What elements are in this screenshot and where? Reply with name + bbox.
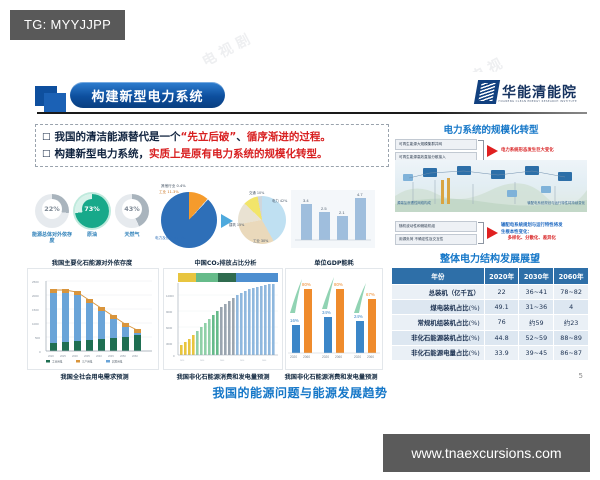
pie-caption: 中国CO₂排放占比分析 bbox=[163, 258, 288, 267]
svg-text:3.4: 3.4 bbox=[303, 198, 309, 203]
page-title: 构建新型电力系统 bbox=[70, 82, 225, 108]
svg-text:1500: 1500 bbox=[32, 308, 39, 312]
svg-text:2050: 2050 bbox=[240, 360, 244, 362]
svg-text:2020: 2020 bbox=[290, 355, 297, 359]
bullet-marker-icon: □ bbox=[42, 129, 51, 146]
cell-2060: 78~82 bbox=[554, 285, 589, 300]
cell-2060: 4 bbox=[554, 300, 589, 315]
watermark-text: 电 视 剧 bbox=[198, 29, 253, 71]
svg-text:80%: 80% bbox=[334, 282, 343, 287]
svg-text:9000: 9000 bbox=[166, 310, 173, 314]
donut-label-total: 能源总体对外依存度 bbox=[32, 232, 72, 244]
svg-text:居民用电: 居民用电 bbox=[112, 360, 123, 364]
svg-text:80%: 80% bbox=[302, 282, 311, 287]
tg-watermark-badge: TG: MYYJJPP bbox=[10, 10, 125, 40]
table-col-2020: 2020年 bbox=[484, 268, 519, 285]
transformation-result: 电力系统形态发生巨大变化 bbox=[501, 148, 554, 155]
table-title: 整体电力结构发展展望 bbox=[391, 250, 589, 265]
row-label-text: 煤电装机占比 bbox=[430, 304, 468, 312]
svg-text:2040: 2040 bbox=[220, 360, 224, 362]
cell-2020: 76 bbox=[484, 315, 519, 330]
svg-text:2030: 2030 bbox=[200, 360, 204, 362]
row-label: 煤电装机占比(%) bbox=[392, 300, 485, 315]
power-structure-table-block: 整体电力结构发展展望 年份 2020年 2030年 2060年 总装机（亿千瓦）… bbox=[391, 250, 589, 361]
svg-text:2000: 2000 bbox=[32, 294, 39, 298]
svg-text:2060: 2060 bbox=[262, 360, 266, 362]
table-row: 常规机组装机占比(%) 76 约59 约23 bbox=[392, 315, 589, 330]
cell-2020: 33.9 bbox=[484, 345, 519, 360]
svg-text:34%: 34% bbox=[322, 310, 331, 315]
svg-text:2020: 2020 bbox=[354, 355, 361, 359]
donut-value-oil: 73% bbox=[82, 205, 102, 213]
bullet-item: □ 我国的清洁能源替代是一个 “先立后破” 、 循序渐进的过程。 bbox=[42, 129, 382, 146]
cell-2020: 49.1 bbox=[484, 300, 519, 315]
bullet-item: □ 构建新型电力系统， 实质上是原有电力系统的规模化转型。 bbox=[42, 146, 382, 163]
transformation-chip: 随机波动性和储能机组 bbox=[395, 221, 477, 232]
transformation-diagram-top: 电力系统的规模化转型 可再生能源大规模集群并网 可再生能源高效直接分散接入 电力… bbox=[395, 122, 587, 163]
svg-text:三产用电: 三产用电 bbox=[82, 360, 93, 364]
svg-text:12000: 12000 bbox=[166, 294, 174, 298]
bullet-text-highlight-1: “先立后破” bbox=[181, 129, 237, 146]
header-divider bbox=[37, 112, 587, 114]
table-row: 煤电装机占比(%) 49.1 31~36 4 bbox=[392, 300, 589, 315]
svg-text:2060: 2060 bbox=[132, 354, 138, 358]
cell-2060: 约23 bbox=[554, 315, 589, 330]
grid-caption-left: 源端氢渗透性网络构成 bbox=[397, 200, 431, 205]
cell-2030: 36~41 bbox=[519, 285, 554, 300]
svg-text:2035: 2035 bbox=[84, 354, 90, 358]
cell-2030: 39~45 bbox=[519, 345, 554, 360]
energy-mix-svg: 120009000 600030000 202020302040 2050206… bbox=[164, 269, 282, 369]
electricity-demand-chart: 250020001500 10005000 202020252030 20352… bbox=[27, 268, 159, 370]
row-label: 非化石能源电量占比(%) bbox=[392, 345, 485, 360]
svg-text:6000: 6000 bbox=[166, 326, 173, 330]
pie2-slice-label-power: 电力 42% bbox=[272, 198, 287, 203]
row-label-text: 总装机（亿千瓦） bbox=[429, 289, 480, 297]
logo-subtext: HUANENG CLEAN ENERGY RESEARCH INSTITUTE bbox=[499, 100, 578, 103]
energy-mix-caption: 我国非化石能源消费和发电量预测 bbox=[163, 372, 283, 381]
slide-header: 构建新型电力系统 华能清能院 HUANENG CLEAN ENERGY RESE… bbox=[13, 72, 587, 118]
svg-text:500: 500 bbox=[35, 336, 40, 340]
row-label-unit: (%) bbox=[469, 304, 480, 312]
bullet-text-highlight-1: 实质上是原有电力系统的规模化转型。 bbox=[149, 146, 328, 163]
donut-value-total: 22% bbox=[42, 205, 62, 213]
pie-slice-label-industry: 工业 11.3% bbox=[159, 190, 179, 195]
table-col-2060: 2060年 bbox=[554, 268, 589, 285]
svg-text:2050: 2050 bbox=[120, 354, 126, 358]
row-label: 非化石能源装机占比(%) bbox=[392, 330, 485, 345]
bullet-text-pre: 构建新型电力系统， bbox=[55, 146, 150, 163]
url-watermark-badge: www.tnaexcursions.com bbox=[383, 434, 590, 472]
svg-text:67%: 67% bbox=[366, 292, 375, 297]
energy-mix-chart: 120009000 600030000 202020302040 2050206… bbox=[163, 268, 283, 370]
growth-chart-svg: 16% 80% 2020 2060 34% 80% 2020 2060 24% … bbox=[286, 269, 382, 369]
grid-caption-right: 输配电系统规划与运行特性将持续变化 bbox=[527, 200, 585, 205]
cell-2030: 31~36 bbox=[519, 300, 554, 315]
transformation-title: 电力系统的规模化转型 bbox=[395, 122, 587, 136]
cell-2020: 44.8 bbox=[484, 330, 519, 345]
row-label: 常规机组装机占比(%) bbox=[392, 315, 485, 330]
transformation-diagram-mid: 随机波动性和储能机组 用源负荷 不确定性及交互性 输配电系统规划与运行特性将发 … bbox=[395, 218, 587, 245]
grid-illustration-captions: 源端氢渗透性网络构成 输配电系统规划与运行特性将持续变化 bbox=[397, 200, 585, 205]
right-arrow-icon bbox=[487, 145, 498, 157]
transformation-chip-group: 随机波动性和储能机组 用源负荷 不确定性及交互性 bbox=[395, 221, 477, 245]
table-row: 总装机（亿千瓦） 22 36~41 78~82 bbox=[392, 285, 589, 300]
demand-chart-svg: 250020001500 10005000 202020252030 20352… bbox=[28, 269, 158, 369]
table-row: 非化石能源电量占比(%) 33.9 39~45 86~87 bbox=[392, 345, 589, 360]
svg-text:16%: 16% bbox=[290, 318, 299, 323]
svg-text:24%: 24% bbox=[354, 314, 363, 319]
svg-text:2020: 2020 bbox=[322, 355, 329, 359]
svg-text:2060: 2060 bbox=[335, 355, 342, 359]
bullet-marker-icon: □ bbox=[42, 146, 51, 163]
pie2-slice-label-industry: 工业 30% bbox=[253, 238, 268, 243]
result-line-3: 多样化、分散化、差异化 bbox=[501, 236, 562, 243]
svg-text:3000: 3000 bbox=[166, 342, 173, 346]
transformation-chip: 可再生能源大规模集群并网 bbox=[395, 139, 477, 150]
svg-text:工业用电: 工业用电 bbox=[52, 360, 63, 364]
power-structure-table: 年份 2020年 2030年 2060年 总装机（亿千瓦） 22 36~41 7… bbox=[391, 267, 589, 361]
cell-2030: 约59 bbox=[519, 315, 554, 330]
gdp-energy-intensity-chart: 3.42.5 2.14.7 bbox=[291, 190, 375, 248]
svg-text:2500: 2500 bbox=[32, 280, 39, 284]
donut-label-oil: 原油 bbox=[72, 232, 112, 238]
pie-slice-label-power: 电力及热力 67.7% bbox=[155, 236, 186, 241]
brace-icon bbox=[478, 222, 484, 244]
demand-caption: 我国全社会用电需求预测 bbox=[27, 372, 162, 381]
svg-text:2030: 2030 bbox=[72, 354, 78, 358]
slide-bottom-caption: 我国的能源问题与能源发展趋势 bbox=[13, 384, 587, 401]
svg-text:0: 0 bbox=[39, 350, 41, 354]
gdp-caption: 单位GDP能耗 bbox=[293, 258, 375, 267]
cell-2060: 88~89 bbox=[554, 330, 589, 345]
dependency-donut-group: 22% 能源总体对外依存度 73% 原油 43% 天然气 bbox=[31, 192, 153, 254]
row-label-unit: (%) bbox=[469, 319, 480, 327]
brace-icon bbox=[478, 140, 484, 162]
bullet-text-highlight-2: 循序渐进的过程。 bbox=[247, 129, 331, 146]
row-label: 总装机（亿千瓦） bbox=[392, 285, 485, 300]
logo-text: 华能清能院 bbox=[502, 82, 577, 102]
row-label-text: 非化石能源装机占比 bbox=[411, 334, 469, 342]
bullet-list: □ 我国的清洁能源替代是一个 “先立后破” 、 循序渐进的过程。 □ 构建新型电… bbox=[35, 124, 389, 167]
svg-text:2020: 2020 bbox=[48, 354, 54, 358]
donut-value-gas: 43% bbox=[122, 205, 142, 213]
gdp-chart-svg: 3.42.5 2.14.7 bbox=[291, 190, 375, 248]
svg-text:2020: 2020 bbox=[180, 360, 184, 362]
cell-2060: 86~87 bbox=[554, 345, 589, 360]
row-label-text: 常规机组装机占比 bbox=[418, 319, 469, 327]
svg-text:2.1: 2.1 bbox=[339, 210, 345, 215]
svg-text:2.5: 2.5 bbox=[321, 206, 327, 211]
svg-text:2045: 2045 bbox=[108, 354, 114, 358]
svg-text:0: 0 bbox=[173, 354, 175, 358]
transformation-flow-row: 随机波动性和储能机组 用源负荷 不确定性及交互性 输配电系统规划与运行特性将发 … bbox=[395, 221, 587, 245]
result-line-1: 输配电系统规划与运行特性将发 bbox=[501, 223, 562, 230]
transformation-result-group: 输配电系统规划与运行特性将发 生根本性变化： 多样化、分散化、差异化 bbox=[501, 223, 562, 243]
cell-2030: 52~59 bbox=[519, 330, 554, 345]
page-number: 5 bbox=[579, 372, 583, 380]
right-arrow-icon bbox=[487, 227, 498, 239]
svg-text:1000: 1000 bbox=[32, 322, 39, 326]
svg-text:2025: 2025 bbox=[60, 354, 66, 358]
table-col-2030: 2030年 bbox=[519, 268, 554, 285]
donut-label-gas: 天然气 bbox=[112, 232, 152, 238]
presentation-slide: 构建新型电力系统 华能清能院 HUANENG CLEAN ENERGY RESE… bbox=[13, 72, 587, 402]
cell-2020: 22 bbox=[484, 285, 519, 300]
nonfossil-growth-chart: 16% 80% 2020 2060 34% 80% 2020 2060 24% … bbox=[285, 268, 383, 370]
row-label-text: 非化石能源电量占比 bbox=[411, 349, 469, 357]
growth-caption: 我国非化石能源消费和发电量预测 bbox=[281, 372, 381, 381]
table-row: 非化石能源装机占比(%) 44.8 52~59 88~89 bbox=[392, 330, 589, 345]
svg-text:4.7: 4.7 bbox=[357, 192, 363, 197]
bullet-text-pre: 我国的清洁能源替代是一个 bbox=[55, 129, 181, 146]
pie2-slice-label-transport: 交通 10% bbox=[249, 190, 264, 195]
table-col-year: 年份 bbox=[392, 268, 485, 285]
co2-sector-pie-chart bbox=[238, 196, 286, 244]
bullet-text-mid: 、 bbox=[236, 129, 247, 146]
row-label-unit: (%) bbox=[469, 349, 480, 357]
row-label-unit: (%) bbox=[469, 334, 480, 342]
svg-text:2040: 2040 bbox=[96, 354, 102, 358]
huaneng-logo-icon bbox=[474, 80, 500, 104]
svg-text:2060: 2060 bbox=[367, 355, 374, 359]
pie-slice-label-other: 其他行业 0.4% bbox=[161, 184, 186, 189]
table-header-row: 年份 2020年 2030年 2060年 bbox=[392, 268, 589, 285]
transformation-chip: 用源负荷 不确定性及交互性 bbox=[395, 234, 477, 245]
header-square-light-icon bbox=[44, 93, 66, 113]
svg-text:2060: 2060 bbox=[303, 355, 310, 359]
donut-caption: 我国主要化石能源对外依存度 bbox=[27, 258, 157, 267]
pie2-slice-label-building: 建筑 15% bbox=[229, 222, 244, 227]
